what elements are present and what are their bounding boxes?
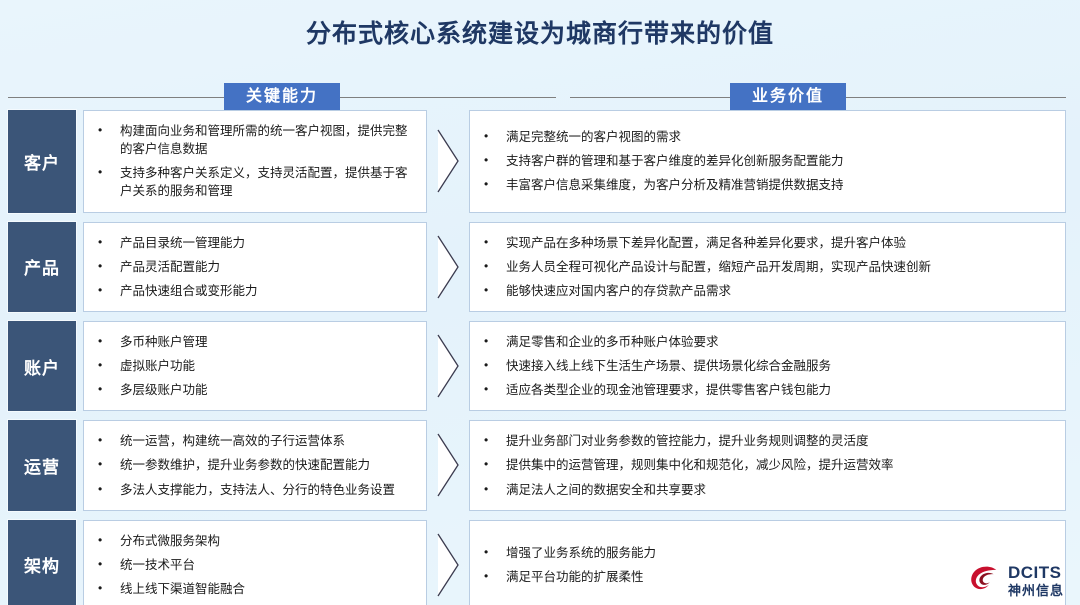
- value-bullet: •提供集中的运营管理，规则集中化和规范化，减少风险，提升运营效率: [484, 453, 1051, 477]
- value-bullet: •实现产品在多种场景下差异化配置，满足各种差异化要求，提升客户体验: [484, 231, 1051, 255]
- chevron-right-icon: [427, 321, 469, 411]
- row-label-架构[interactable]: 架构: [8, 520, 76, 605]
- capability-bullet: •虚拟账户功能: [98, 354, 412, 378]
- capability-bullet-text: 线上线下渠道智能融合: [120, 580, 412, 598]
- bullet-dot-icon: •: [98, 481, 120, 498]
- capability-bullet-text: 产品灵活配置能力: [120, 258, 412, 276]
- logo-cn-label: 神州信息: [1008, 584, 1064, 597]
- bullet-dot-icon: •: [484, 357, 506, 374]
- capabilities-box: •分布式微服务架构•统一技术平台•线上线下渠道智能融合: [83, 520, 427, 605]
- capability-bullet: •多币种账户管理: [98, 330, 412, 354]
- value-row: 账户•多币种账户管理•虚拟账户功能•多层级账户功能•满足零售和企业的多币种账户体…: [0, 321, 1080, 411]
- bullet-dot-icon: •: [98, 282, 120, 299]
- bullet-dot-icon: •: [484, 258, 506, 275]
- brand-logo: DCITS 神州信息: [967, 563, 1064, 597]
- value-row: 运营•统一运营，构建统一高效的子行运营体系•统一参数维护，提升业务参数的快速配置…: [0, 420, 1080, 510]
- capability-bullet-text: 构建面向业务和管理所需的统一客户视图，提供完整的客户信息数据: [120, 122, 412, 158]
- capability-bullet: •多法人支撑能力，支持法人、分行的特色业务设置: [98, 478, 412, 502]
- bullet-dot-icon: •: [484, 481, 506, 498]
- header-rule-left: [570, 97, 730, 98]
- bullet-dot-icon: •: [98, 456, 120, 473]
- value-bullet: •增强了业务系统的服务能力: [484, 541, 1051, 565]
- row-label-运营[interactable]: 运营: [8, 420, 76, 510]
- value-bullet: •满足零售和企业的多币种账户体验要求: [484, 330, 1051, 354]
- capability-bullet: •构建面向业务和管理所需的统一客户视图，提供完整的客户信息数据: [98, 119, 412, 161]
- bullet-dot-icon: •: [98, 234, 120, 251]
- capability-bullet: •线上线下渠道智能融合: [98, 577, 412, 601]
- value-bullet: •适应各类型企业的现金池管理要求，提供零售客户钱包能力: [484, 378, 1051, 402]
- bullet-dot-icon: •: [98, 580, 120, 597]
- chevron-right-icon: [427, 110, 469, 213]
- value-bullet-text: 满足法人之间的数据安全和共享要求: [506, 481, 1051, 499]
- capability-bullet: •支持多种客户关系定义，支持灵活配置，提供基于客户关系的服务和管理: [98, 161, 412, 203]
- business-values-box: •满足零售和企业的多币种账户体验要求•快速接入线上线下生活生产场景、提供场景化综…: [469, 321, 1066, 411]
- value-bullet-text: 提供集中的运营管理，规则集中化和规范化，减少风险，提升运营效率: [506, 456, 1051, 474]
- value-bullet-text: 适应各类型企业的现金池管理要求，提供零售客户钱包能力: [506, 381, 1051, 399]
- bullet-dot-icon: •: [484, 234, 506, 251]
- capability-bullet-text: 产品目录统一管理能力: [120, 234, 412, 252]
- business-values-box: •提升业务部门对业务参数的管控能力，提升业务规则调整的灵活度•提供集中的运营管理…: [469, 420, 1066, 510]
- row-label-产品[interactable]: 产品: [8, 222, 76, 312]
- capability-bullet-text: 多层级账户功能: [120, 381, 412, 399]
- capabilities-box: •构建面向业务和管理所需的统一客户视图，提供完整的客户信息数据•支持多种客户关系…: [83, 110, 427, 213]
- value-bullet: •丰富客户信息采集维度，为客户分析及精准营销提供数据支持: [484, 173, 1051, 197]
- bullet-dot-icon: •: [98, 381, 120, 398]
- capabilities-box: •统一运营，构建统一高效的子行运营体系•统一参数维护，提升业务参数的快速配置能力…: [83, 420, 427, 510]
- value-bullet-text: 提升业务部门对业务参数的管控能力，提升业务规则调整的灵活度: [506, 432, 1051, 450]
- capability-bullet-text: 产品快速组合或变形能力: [120, 282, 412, 300]
- capabilities-box: •多币种账户管理•虚拟账户功能•多层级账户功能: [83, 321, 427, 411]
- business-values-box: •满足完整统一的客户视图的需求•支持客户群的管理和基于客户维度的差异化创新服务配…: [469, 110, 1066, 213]
- bullet-dot-icon: •: [484, 432, 506, 449]
- bullet-dot-icon: •: [98, 556, 120, 573]
- header-rule-left: [8, 97, 224, 98]
- capability-bullet-text: 统一技术平台: [120, 556, 412, 574]
- capability-bullet-text: 统一运营，构建统一高效的子行运营体系: [120, 432, 412, 450]
- bullet-dot-icon: •: [484, 381, 506, 398]
- value-bullet: •满足平台功能的扩展柔性: [484, 565, 1051, 589]
- header-badge-values: 业务价值: [730, 83, 846, 112]
- logo-en-label: DCITS: [1008, 564, 1064, 581]
- header-rule-right: [846, 97, 1066, 98]
- header-rule-right: [340, 97, 556, 98]
- value-bullet: •业务人员全程可视化产品设计与配置，缩短产品开发周期，实现产品快速创新: [484, 255, 1051, 279]
- column-headers: 关键能力 业务价值: [0, 82, 1080, 112]
- column-header-capabilities: 关键能力: [0, 82, 562, 112]
- bullet-dot-icon: •: [484, 152, 506, 169]
- bullet-dot-icon: •: [98, 333, 120, 350]
- column-header-values: 业务价值: [562, 82, 1080, 112]
- header-badge-capabilities: 关键能力: [224, 83, 340, 112]
- bullet-dot-icon: •: [98, 164, 120, 181]
- capability-bullet-text: 多法人支撑能力，支持法人、分行的特色业务设置: [120, 481, 412, 499]
- business-values-box: •实现产品在多种场景下差异化配置，满足各种差异化要求，提升客户体验•业务人员全程…: [469, 222, 1066, 312]
- value-bullet: •满足完整统一的客户视图的需求: [484, 125, 1051, 149]
- value-row: 架构•分布式微服务架构•统一技术平台•线上线下渠道智能融合•增强了业务系统的服务…: [0, 520, 1080, 605]
- bullet-dot-icon: •: [484, 128, 506, 145]
- capability-bullet: •统一参数维护，提升业务参数的快速配置能力: [98, 453, 412, 477]
- value-bullet: •快速接入线上线下生活生产场景、提供场景化综合金融服务: [484, 354, 1051, 378]
- chevron-right-icon: [427, 420, 469, 510]
- row-label-客户[interactable]: 客户: [8, 110, 76, 213]
- value-bullet: •满足法人之间的数据安全和共享要求: [484, 478, 1051, 502]
- capability-bullet: •分布式微服务架构: [98, 529, 412, 553]
- rows-container: 客户•构建面向业务和管理所需的统一客户视图，提供完整的客户信息数据•支持多种客户…: [0, 110, 1080, 605]
- value-bullet-text: 支持客户群的管理和基于客户维度的差异化创新服务配置能力: [506, 152, 1051, 170]
- capability-bullet: •产品快速组合或变形能力: [98, 279, 412, 303]
- bullet-dot-icon: •: [484, 568, 506, 585]
- value-bullet-text: 丰富客户信息采集维度，为客户分析及精准营销提供数据支持: [506, 176, 1051, 194]
- capability-bullet-text: 统一参数维护，提升业务参数的快速配置能力: [120, 456, 412, 474]
- value-bullet-text: 快速接入线上线下生活生产场景、提供场景化综合金融服务: [506, 357, 1051, 375]
- capability-bullet: •统一运营，构建统一高效的子行运营体系: [98, 429, 412, 453]
- capability-bullet: •统一技术平台: [98, 553, 412, 577]
- row-label-账户[interactable]: 账户: [8, 321, 76, 411]
- value-bullet-text: 满足完整统一的客户视图的需求: [506, 128, 1051, 146]
- bullet-dot-icon: •: [484, 282, 506, 299]
- bullet-dot-icon: •: [484, 544, 506, 561]
- value-bullet-text: 实现产品在多种场景下差异化配置，满足各种差异化要求，提升客户体验: [506, 234, 1051, 252]
- capability-bullet: •多层级账户功能: [98, 378, 412, 402]
- capability-bullet-text: 分布式微服务架构: [120, 532, 412, 550]
- page-title: 分布式核心系统建设为城商行带来的价值: [0, 14, 1080, 50]
- chevron-right-icon: [427, 520, 469, 605]
- capability-bullet-text: 支持多种客户关系定义，支持灵活配置，提供基于客户关系的服务和管理: [120, 164, 412, 200]
- value-row: 客户•构建面向业务和管理所需的统一客户视图，提供完整的客户信息数据•支持多种客户…: [0, 110, 1080, 213]
- capability-bullet: •产品目录统一管理能力: [98, 231, 412, 255]
- chevron-right-icon: [427, 222, 469, 312]
- bullet-dot-icon: •: [484, 456, 506, 473]
- value-bullet-text: 满足零售和企业的多币种账户体验要求: [506, 333, 1051, 351]
- swirl-logo-icon: [967, 563, 1001, 597]
- bullet-dot-icon: •: [98, 258, 120, 275]
- capability-bullet-text: 虚拟账户功能: [120, 357, 412, 375]
- capabilities-box: •产品目录统一管理能力•产品灵活配置能力•产品快速组合或变形能力: [83, 222, 427, 312]
- logo-text: DCITS 神州信息: [1008, 564, 1064, 597]
- bullet-dot-icon: •: [98, 357, 120, 374]
- capability-bullet-text: 多币种账户管理: [120, 333, 412, 351]
- value-bullet: •能够快速应对国内客户的存贷款产品需求: [484, 279, 1051, 303]
- value-bullet: •支持客户群的管理和基于客户维度的差异化创新服务配置能力: [484, 149, 1051, 173]
- bullet-dot-icon: •: [484, 176, 506, 193]
- bullet-dot-icon: •: [98, 122, 120, 139]
- value-bullet: •提升业务部门对业务参数的管控能力，提升业务规则调整的灵活度: [484, 429, 1051, 453]
- value-bullet-text: 增强了业务系统的服务能力: [506, 544, 1051, 562]
- bullet-dot-icon: •: [98, 532, 120, 549]
- bullet-dot-icon: •: [484, 333, 506, 350]
- capability-bullet: •产品灵活配置能力: [98, 255, 412, 279]
- value-bullet-text: 业务人员全程可视化产品设计与配置，缩短产品开发周期，实现产品快速创新: [506, 258, 1051, 276]
- value-bullet-text: 能够快速应对国内客户的存贷款产品需求: [506, 282, 1051, 300]
- value-row: 产品•产品目录统一管理能力•产品灵活配置能力•产品快速组合或变形能力•实现产品在…: [0, 222, 1080, 312]
- bullet-dot-icon: •: [98, 432, 120, 449]
